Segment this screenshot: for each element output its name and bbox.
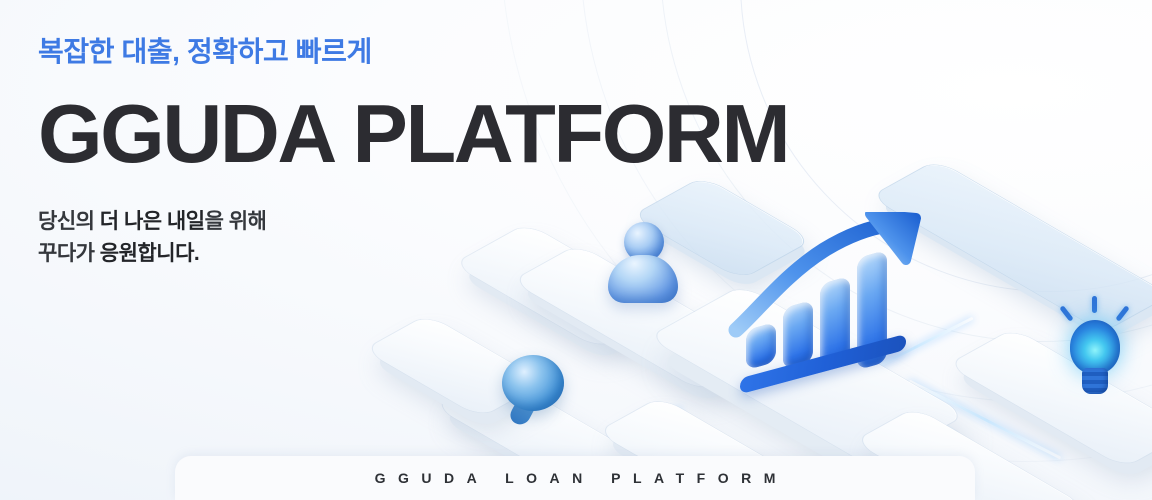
hero-banner: 복잡한 대출, 정확하고 빠르게 GGUDA PLATFORM 당신의 더 나은… <box>0 0 1152 500</box>
brand-ribbon: GGUDA LOAN PLATFORM <box>175 456 975 500</box>
bulb-glass <box>1070 320 1120 374</box>
speech-bubble-icon <box>502 355 568 429</box>
hero-subcopy: 당신의 더 나은 내일을 위해 꾸다가 응원합니다. <box>38 206 788 270</box>
subcopy-emphasis: 더 나은 내일 <box>100 210 205 233</box>
hero-eyebrow: 복잡한 대출, 정확하고 빠르게 <box>38 34 788 69</box>
bulb-ray <box>1059 305 1073 321</box>
bulb-ray <box>1115 305 1129 321</box>
hero-subcopy-line-2: 꾸다가 응원합니다. <box>38 238 788 270</box>
chart-bar <box>746 322 776 370</box>
bubble-body <box>502 355 564 411</box>
page-title: GGUDA PLATFORM <box>38 93 788 174</box>
hero-copy: 복잡한 대출, 정확하고 빠르게 GGUDA PLATFORM 당신의 더 나은… <box>38 34 788 270</box>
bulb-ray <box>1092 296 1097 313</box>
lightbulb-icon <box>1046 294 1142 404</box>
brand-ribbon-text: GGUDA LOAN PLATFORM <box>362 470 788 486</box>
subcopy-text: 당신의 <box>38 210 100 233</box>
subcopy-emphasis: 응원합니다. <box>100 242 199 265</box>
hero-subcopy-line-1: 당신의 더 나은 내일을 위해 <box>38 206 788 238</box>
bulb-base <box>1082 368 1108 394</box>
subcopy-text: 을 위해 <box>205 210 267 233</box>
subcopy-text: 꾸다가 <box>38 242 100 265</box>
